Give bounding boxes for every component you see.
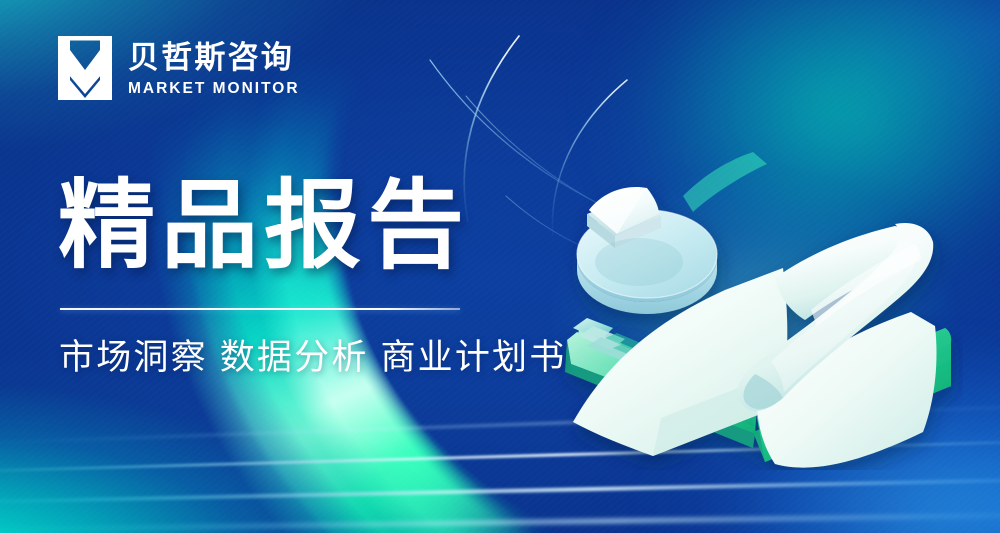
brand-name-cn: 贝哲斯咨询 <box>128 41 300 74</box>
blue-glow-bloom <box>620 330 1000 533</box>
page-title: 精品报告 <box>58 176 470 277</box>
title-divider <box>60 308 460 310</box>
brand-name-en: MARKET MONITOR <box>128 81 300 97</box>
report-banner: 贝哲斯咨询 MARKET MONITOR 精品报告 市场洞察 数据分析 商业计划… <box>0 0 1000 533</box>
brand-logo[interactable]: 贝哲斯咨询 MARKET MONITOR <box>58 36 300 100</box>
brand-wordmark: 贝哲斯咨询 MARKET MONITOR <box>128 39 300 97</box>
subtitle: 市场洞察 数据分析 商业计划书 <box>59 334 566 381</box>
bezhes-m-monogram-icon <box>58 36 112 100</box>
